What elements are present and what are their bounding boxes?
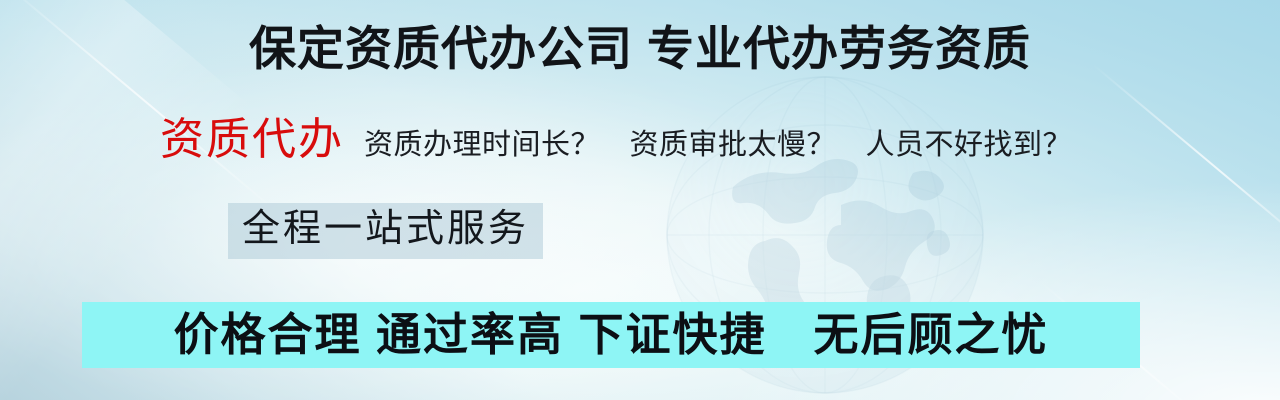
benefits-band: 价格合理 通过率高 下证快捷 无后顾之忧 — [82, 302, 1140, 368]
service-promise-band: 全程一站式服务 — [228, 203, 543, 259]
benefits-text: 价格合理 通过率高 下证快捷 无后顾之忧 — [173, 309, 1048, 361]
page-title: 保定资质代办公司 专业代办劳务资质 — [0, 17, 1280, 81]
promo-banner: 保定资质代办公司 专业代办劳务资质 资质代办 资质办理时间长？ 资质审批太慢？ … — [0, 0, 1280, 400]
pain-points-text: 资质办理时间长？ 资质审批太慢？ 人员不好找到？ — [364, 117, 1072, 173]
banner-content: 保定资质代办公司 专业代办劳务资质 资质代办 资质办理时间长？ 资质审批太慢？ … — [0, 0, 1280, 400]
pain-points-row: 资质代办 资质办理时间长？ 资质审批太慢？ 人员不好找到？ — [160, 112, 1072, 173]
brand-highlight-text: 资质代办 — [160, 112, 344, 168]
service-promise-text: 全程一站式服务 — [242, 208, 529, 250]
